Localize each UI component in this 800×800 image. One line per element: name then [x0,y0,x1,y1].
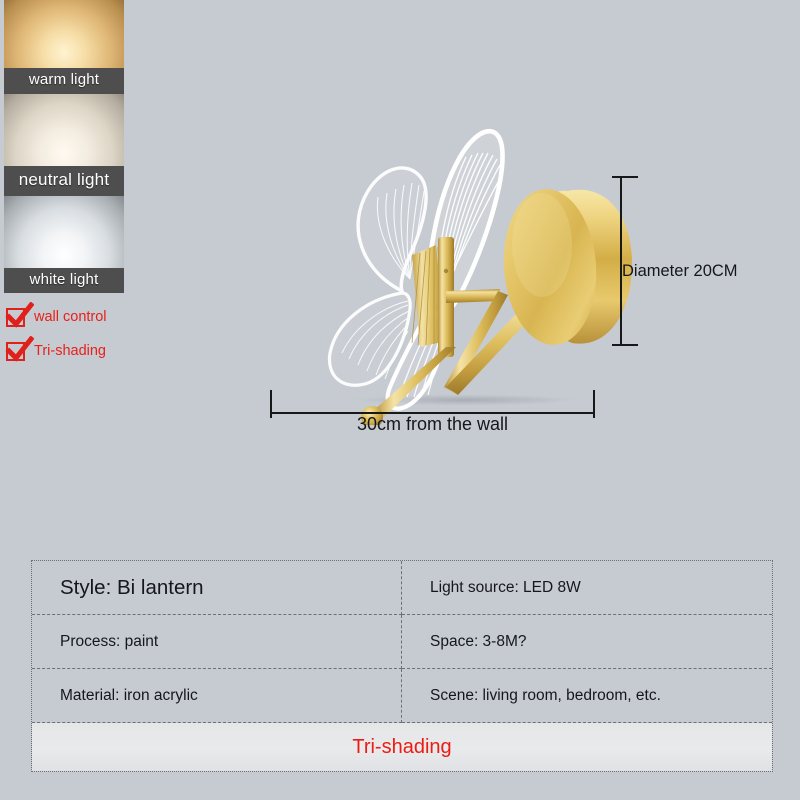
specification-table: Style: Bi lantern Light source: LED 8W P… [31,560,773,772]
feature-row-wall-control[interactable]: wall control [6,300,107,334]
warm-light-glow-icon [4,0,124,68]
checkbox-checked-icon[interactable] [6,342,25,361]
table-row: Process: paint Space: 3-8M? [32,615,772,669]
feature-row-tri-shading[interactable]: Tri-shading [6,334,107,368]
table-row: Material: iron acrylic Scene: living roo… [32,669,772,723]
feature-label-wall-control: wall control [34,309,107,325]
neutral-light-glow-icon [4,94,124,166]
spec-cell-space: Space: 3-8M? [402,615,772,669]
table-row: Style: Bi lantern Light source: LED 8W [32,561,772,615]
light-mode-swatch-neutral[interactable]: neutral light [4,94,124,196]
butterfly-wall-lamp-image [250,95,670,425]
dimension-tick-top [612,176,638,178]
product-image-canvas: warm light neutral light white light wal… [0,0,800,800]
dimension-tick-bottom [612,344,638,346]
feature-label-tri-shading: Tri-shading [34,343,106,359]
white-light-glow-icon [4,196,124,268]
light-mode-label-warm: warm light [4,68,124,94]
spec-cell-light-source: Light source: LED 8W [402,561,772,615]
feature-checkbox-list: wall control Tri-shading [6,300,107,368]
light-mode-label-neutral: neutral light [4,166,124,196]
spec-cell-process: Process: paint [32,615,402,669]
spec-cell-scene: Scene: living room, bedroom, etc. [402,669,772,723]
width-label: 30cm from the wall [270,414,595,435]
checkbox-checked-icon[interactable] [6,308,25,327]
diameter-label: Diameter 20CM [622,262,738,281]
spec-cell-style: Style: Bi lantern [32,561,402,615]
light-mode-label-white: white light [4,268,124,294]
diameter-dimension-line [612,176,642,346]
lamp-connector [446,289,500,303]
light-mode-swatch-white[interactable]: white light [4,196,124,294]
light-mode-swatch-warm[interactable]: warm light [4,0,124,94]
spec-cell-material: Material: iron acrylic [32,669,402,723]
light-mode-swatch-strip: warm light neutral light white light [4,0,124,293]
spec-table-footer: Tri-shading [32,723,772,771]
dimension-vertical-line [620,176,622,346]
